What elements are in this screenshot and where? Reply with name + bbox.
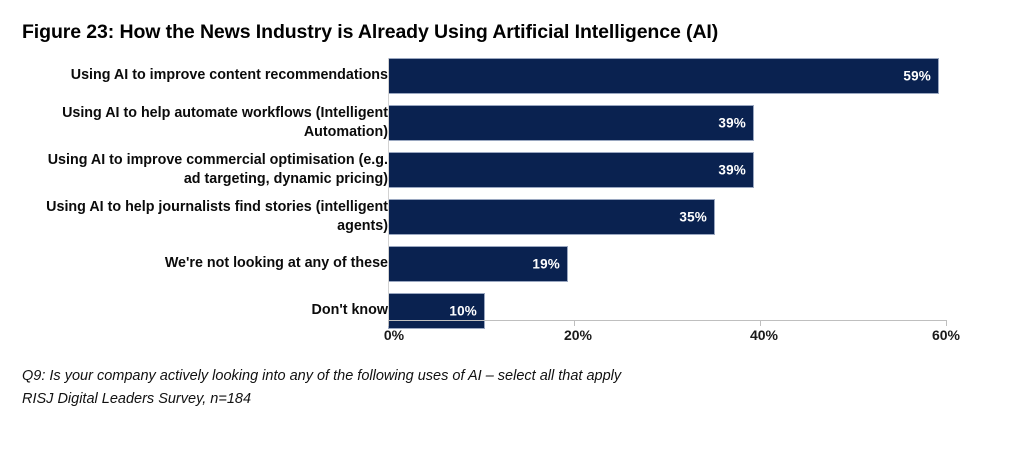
bar-value-label: 39% — [718, 163, 746, 178]
chart-footnote: Q9: Is your company actively looking int… — [22, 365, 621, 411]
category-label: We're not looking at any of these — [18, 254, 388, 273]
bar[interactable]: 35% — [388, 199, 715, 235]
bar-track: 10% — [388, 293, 946, 329]
bar[interactable]: 19% — [388, 246, 568, 282]
bar[interactable]: 10% — [388, 293, 485, 329]
bar-value-label: 10% — [449, 304, 477, 319]
bar-track: 59% — [388, 58, 946, 94]
bar[interactable]: 39% — [388, 105, 754, 141]
chart-row: Don't know 10% — [0, 293, 1024, 329]
bar-track: 35% — [388, 199, 946, 235]
x-axis-tick — [760, 320, 761, 326]
footnote-question: Q9: Is your company actively looking int… — [22, 365, 621, 388]
bar[interactable]: 59% — [388, 58, 939, 94]
chart-row: Using AI to help automate workflows (Int… — [0, 105, 1024, 141]
category-label: Using AI to improve commercial optimisat… — [18, 151, 388, 189]
category-label: Using AI to improve content recommendati… — [18, 66, 388, 85]
x-axis-tick — [946, 320, 947, 326]
x-axis-tick — [574, 320, 575, 326]
bar-value-label: 35% — [679, 210, 707, 225]
bar-value-label: 19% — [532, 257, 560, 272]
footnote-source: RISJ Digital Leaders Survey, n=184 — [22, 388, 621, 411]
x-axis-line — [388, 320, 946, 321]
bar-value-label: 39% — [718, 116, 746, 131]
x-axis-tick-label: 40% — [750, 327, 778, 343]
chart-row: Using AI to help journalists find storie… — [0, 199, 1024, 235]
category-label: Using AI to help automate workflows (Int… — [18, 104, 388, 142]
bar-value-label: 59% — [903, 69, 931, 84]
x-axis-tick-label: 20% — [564, 327, 592, 343]
chart-plot-area: Using AI to improve content recommendati… — [0, 58, 1024, 320]
chart-row: Using AI to improve content recommendati… — [0, 58, 1024, 94]
x-axis-tick — [388, 320, 389, 326]
chart-row: We're not looking at any of these 19% — [0, 246, 1024, 282]
page-title: Figure 23: How the News Industry is Alre… — [22, 21, 718, 44]
y-axis-baseline — [388, 58, 389, 320]
bar-track: 39% — [388, 152, 946, 188]
bar[interactable]: 39% — [388, 152, 754, 188]
category-label: Don't know — [18, 301, 388, 320]
category-label: Using AI to help journalists find storie… — [18, 198, 388, 236]
bar-track: 39% — [388, 105, 946, 141]
x-axis-tick-label: 0% — [384, 327, 404, 343]
bar-track: 19% — [388, 246, 946, 282]
x-axis-tick-label: 60% — [932, 327, 960, 343]
chart-row: Using AI to improve commercial optimisat… — [0, 152, 1024, 188]
